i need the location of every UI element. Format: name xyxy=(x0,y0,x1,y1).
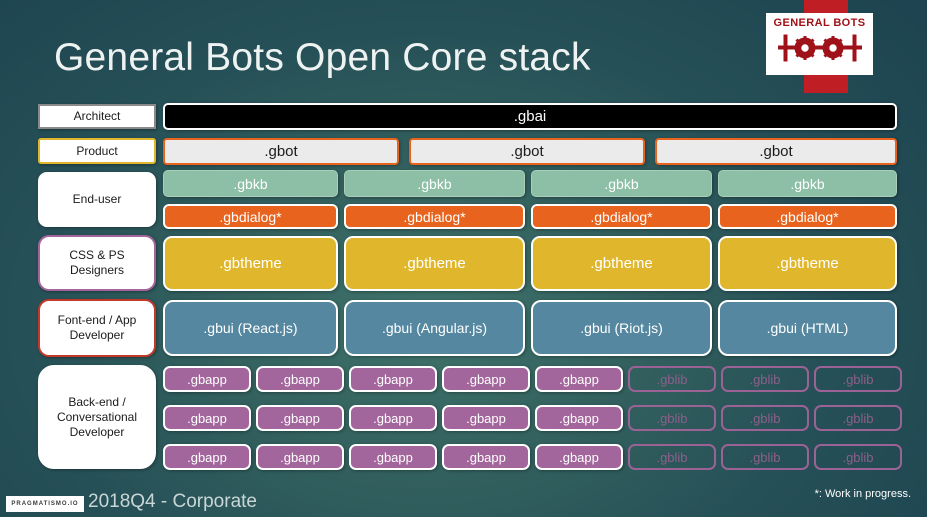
sidebar-item-label: CSS & PS Designers xyxy=(44,248,150,278)
stack-cell-gbkb-4[interactable]: .gbkb xyxy=(718,170,897,197)
cell-label: .gbkb xyxy=(233,176,267,192)
sidebar-item-backend-conversational-developer[interactable]: Back-end / Conversational Developer xyxy=(38,365,156,469)
cell-label: .gblib xyxy=(749,372,780,387)
stack-cell-gbui-html[interactable]: .gbui (HTML) xyxy=(718,300,897,356)
stack-cell-gbui-angular[interactable]: .gbui (Angular.js) xyxy=(344,300,525,356)
cell-label: .gbai xyxy=(514,108,547,125)
cell-label: .gbapp xyxy=(373,450,413,465)
stack-cell-gbai[interactable]: .gbai xyxy=(163,103,897,130)
stack-cell-gbapp[interactable]: .gbapp xyxy=(349,405,437,431)
stack-cell-gbapp[interactable]: .gbapp xyxy=(442,405,530,431)
cell-label: .gbot xyxy=(264,143,297,160)
cell-label: .gbapp xyxy=(280,411,320,426)
cell-label: .gbapp xyxy=(466,411,506,426)
cell-label: .gbapp xyxy=(466,450,506,465)
stack-cell-gbot-3[interactable]: .gbot xyxy=(655,138,897,165)
cell-label: .gbapp xyxy=(466,372,506,387)
cell-label: .gbapp xyxy=(187,411,227,426)
stack-cell-gbtheme-1[interactable]: .gbtheme xyxy=(163,236,338,291)
sidebar-item-end-user[interactable]: End-user xyxy=(38,172,156,227)
cell-label: .gbdialog* xyxy=(403,209,465,225)
sidebar-item-label: Architect xyxy=(74,109,121,124)
cell-label: .gbkb xyxy=(417,176,451,192)
stack-cell-gbdialog-1[interactable]: .gbdialog* xyxy=(163,204,338,229)
cell-label: .gbtheme xyxy=(219,255,282,272)
cell-label: .gbapp xyxy=(559,372,599,387)
cell-label: .gbdialog* xyxy=(219,209,281,225)
stack-cell-gblib[interactable]: .gblib xyxy=(628,444,716,470)
cell-label: .gbdialog* xyxy=(590,209,652,225)
stack-cell-gbkb-2[interactable]: .gbkb xyxy=(344,170,525,197)
footnote-work-in-progress: *: Work in progress. xyxy=(815,488,911,500)
stack-cell-gblib[interactable]: .gblib xyxy=(814,366,902,392)
cell-label: .gbkb xyxy=(790,176,824,192)
stack-cell-gbkb-1[interactable]: .gbkb xyxy=(163,170,338,197)
cell-label: .gbapp xyxy=(373,411,413,426)
stack-cell-gbapp[interactable]: .gbapp xyxy=(349,444,437,470)
stack-cell-gbot-2[interactable]: .gbot xyxy=(409,138,645,165)
cell-label: .gbapp xyxy=(373,372,413,387)
cell-label: .gbdialog* xyxy=(776,209,838,225)
stack-cell-gbtheme-2[interactable]: .gbtheme xyxy=(344,236,525,291)
cell-label: .gblib xyxy=(656,450,687,465)
stack-cell-gbdialog-2[interactable]: .gbdialog* xyxy=(344,204,525,229)
sidebar-item-architect[interactable]: Architect xyxy=(38,104,156,129)
stack-cell-gbapp[interactable]: .gbapp xyxy=(442,444,530,470)
logo-wordmark: GENERAL BOTS xyxy=(774,18,866,29)
cell-label: .gbui (Riot.js) xyxy=(580,320,662,336)
cell-label: .gbot xyxy=(759,143,792,160)
stack-cell-gblib[interactable]: .gblib xyxy=(721,405,809,431)
stack-cell-gblib[interactable]: .gblib xyxy=(721,444,809,470)
sidebar-item-label: Product xyxy=(76,144,117,159)
cell-label: .gblib xyxy=(749,450,780,465)
stack-cell-gbui-react[interactable]: .gbui (React.js) xyxy=(163,300,338,356)
cell-label: .gbot xyxy=(510,143,543,160)
cell-label: .gbapp xyxy=(280,450,320,465)
cell-label: .gblib xyxy=(656,372,687,387)
slide-canvas: GENERAL BOTS xyxy=(0,0,927,517)
stack-cell-gbapp[interactable]: .gbapp xyxy=(256,366,344,392)
cell-label: .gblib xyxy=(842,372,873,387)
stack-cell-gblib[interactable]: .gblib xyxy=(628,405,716,431)
stack-cell-gbtheme-3[interactable]: .gbtheme xyxy=(531,236,712,291)
pragmatismo-wordmark: PRAGMATISMO.IO xyxy=(11,501,78,507)
cell-label: .gblib xyxy=(656,411,687,426)
stack-cell-gbkb-3[interactable]: .gbkb xyxy=(531,170,712,197)
sidebar-item-label: Font-end / App Developer xyxy=(44,313,150,343)
stack-cell-gbapp[interactable]: .gbapp xyxy=(163,366,251,392)
stack-cell-gblib[interactable]: .gblib xyxy=(721,366,809,392)
stack-cell-gbapp[interactable]: .gbapp xyxy=(535,366,623,392)
cell-label: .gbtheme xyxy=(403,255,466,272)
sidebar-item-css-ps-designers[interactable]: CSS & PS Designers xyxy=(38,235,156,291)
cell-label: .gblib xyxy=(749,411,780,426)
sidebar-item-frontend-app-developer[interactable]: Font-end / App Developer xyxy=(38,299,156,357)
stack-cell-gbui-riot[interactable]: .gbui (Riot.js) xyxy=(531,300,712,356)
stack-cell-gbapp[interactable]: .gbapp xyxy=(535,444,623,470)
footer-caption: 2018Q4 - Corporate xyxy=(88,491,257,513)
stack-cell-gbtheme-4[interactable]: .gbtheme xyxy=(718,236,897,291)
stack-cell-gbapp[interactable]: .gbapp xyxy=(256,444,344,470)
sidebar-item-label: Back-end / Conversational Developer xyxy=(44,395,150,440)
stack-cell-gblib[interactable]: .gblib xyxy=(814,405,902,431)
stack-cell-gbapp[interactable]: .gbapp xyxy=(163,405,251,431)
stack-cell-gbot-1[interactable]: .gbot xyxy=(163,138,399,165)
cell-label: .gblib xyxy=(842,411,873,426)
pragmatismo-logo: PRAGMATISMO.IO xyxy=(6,496,84,512)
cell-label: .gbapp xyxy=(187,450,227,465)
cell-label: .gbapp xyxy=(187,372,227,387)
cell-label: .gbapp xyxy=(559,450,599,465)
cell-label: .gbapp xyxy=(280,372,320,387)
stack-cell-gbapp[interactable]: .gbapp xyxy=(256,405,344,431)
stack-cell-gbdialog-4[interactable]: .gbdialog* xyxy=(718,204,897,229)
cell-label: .gbtheme xyxy=(776,255,839,272)
stack-cell-gbapp[interactable]: .gbapp xyxy=(535,405,623,431)
stack-cell-gbapp[interactable]: .gbapp xyxy=(442,366,530,392)
sidebar-item-label: End-user xyxy=(73,192,122,207)
cell-label: .gbui (Angular.js) xyxy=(382,320,487,336)
cell-label: .gbui (HTML) xyxy=(767,320,849,336)
stack-cell-gblib[interactable]: .gblib xyxy=(628,366,716,392)
stack-cell-gbapp[interactable]: .gbapp xyxy=(349,366,437,392)
sidebar-item-product[interactable]: Product xyxy=(38,138,156,164)
cell-label: .gbapp xyxy=(559,411,599,426)
cell-label: .gbui (React.js) xyxy=(203,320,297,336)
gears-icon xyxy=(778,31,862,70)
cell-label: .gbkb xyxy=(604,176,638,192)
stack-cell-gbapp[interactable]: .gbapp xyxy=(163,444,251,470)
general-bots-logo: GENERAL BOTS xyxy=(766,13,873,75)
cell-label: .gbtheme xyxy=(590,255,653,272)
cell-label: .gblib xyxy=(842,450,873,465)
stack-cell-gblib[interactable]: .gblib xyxy=(814,444,902,470)
stack-cell-gbdialog-3[interactable]: .gbdialog* xyxy=(531,204,712,229)
page-title: General Bots Open Core stack xyxy=(54,36,591,80)
